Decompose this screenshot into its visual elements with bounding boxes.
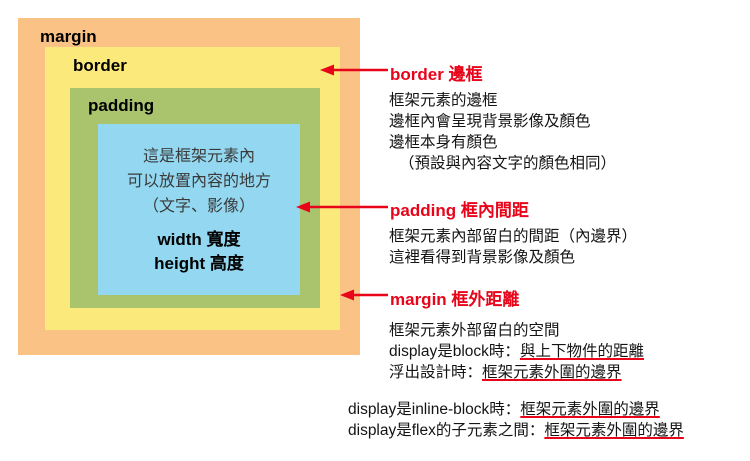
padding-annotation-body: 框架元素內部留白的間距（內邊界） 這裡看得到背景影像及顏色 [389,226,637,268]
margin-annotation-line-1: 框架元素外部留白的空間 [389,320,644,341]
margin-rule-4-value: 框架元素外圍的邊界 [544,422,684,439]
border-callout-arrow [320,64,388,76]
margin-rule-3-prefix: display是inline-block時： [348,401,520,418]
content-box: 這是框架元素內 可以放置內容的地方 （文字、影像） width 寬度 heigh… [98,124,300,295]
margin-rule-2-prefix: 浮出設計時： [389,364,482,381]
padding-annotation-heading: padding 框內間距 [390,196,529,221]
margin-annotation-rule-1: display是block時：與上下物件的距離 [389,341,644,362]
margin-extra-rules: display是inline-block時：框架元素外圍的邊界 display是… [348,399,684,441]
content-text-line-2: 可以放置內容的地方 [127,169,271,194]
margin-rule-3-value: 框架元素外圍的邊界 [520,401,660,418]
padding-box: padding 這是框架元素內 可以放置內容的地方 （文字、影像） width … [70,88,320,308]
padding-box-label: padding [88,96,154,116]
content-width-label: width 寬度 [157,228,240,252]
content-text-line-3: （文字、影像） [143,194,255,219]
content-height-label: height 高度 [154,252,244,276]
margin-box: margin border padding 這是框架元素內 可以放置內容的地方 … [18,18,360,355]
margin-box-label: margin [40,27,97,47]
padding-annotation-line-1: 框架元素內部留白的間距（內邊界） [389,226,637,247]
border-annotation-line-3: 邊框本身有顏色 [389,132,616,153]
border-box: border padding 這是框架元素內 可以放置內容的地方 （文字、影像）… [45,47,340,330]
border-annotation-line-1: 框架元素的邊框 [389,90,616,111]
border-box-label: border [73,56,127,76]
border-annotation-body: 框架元素的邊框 邊框內會呈現背景影像及顏色 邊框本身有顏色 （預設與內容文字的顏… [389,90,616,174]
border-annotation-line-4: （預設與內容文字的顏色相同） [389,153,616,174]
margin-rule-2-value: 框架元素外圍的邊界 [482,364,622,381]
margin-annotation-rule-4: display是flex的子元素之間：框架元素外圍的邊界 [348,420,684,441]
margin-annotation-rule-3: display是inline-block時：框架元素外圍的邊界 [348,399,684,420]
border-annotation-line-2: 邊框內會呈現背景影像及顏色 [389,111,616,132]
margin-rule-4-prefix: display是flex的子元素之間： [348,422,544,439]
margin-callout-arrow [340,289,388,301]
margin-annotation-rule-2: 浮出設計時：框架元素外圍的邊界 [389,362,644,383]
margin-rule-1-prefix: display是block時： [389,343,520,360]
box-model-diagram: margin border padding 這是框架元素內 可以放置內容的地方 … [18,18,360,355]
padding-annotation-line-2: 這裡看得到背景影像及顏色 [389,247,637,268]
margin-annotation-heading: margin 框外距離 [390,285,519,310]
content-text-line-1: 這是框架元素內 [143,144,255,169]
margin-rule-1-value: 與上下物件的距離 [520,343,644,360]
margin-annotation-body: 框架元素外部留白的空間 display是block時：與上下物件的距離 浮出設計… [389,320,644,383]
padding-callout-arrow [296,201,388,213]
border-annotation-heading: border 邊框 [390,60,483,85]
